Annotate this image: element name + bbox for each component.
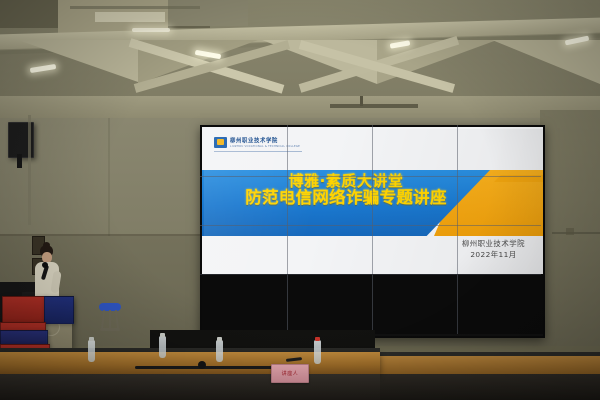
- wall-conduit: [28, 115, 31, 225]
- water-bottle: [314, 340, 321, 364]
- panel-seam: [200, 176, 541, 177]
- product-box: [2, 296, 46, 324]
- ceiling-light: [132, 28, 170, 32]
- ceiling: [0, 0, 600, 122]
- slide-title: 博雅·素质大讲堂 防范电信网络诈骗专题讲座: [202, 173, 490, 207]
- stool-base: [100, 328, 120, 331]
- name-card-text: 讲座人: [282, 370, 299, 377]
- logo-name-en: LIUZHOU VOCATIONAL & TECHNICAL COLLEGE: [230, 145, 300, 148]
- water-bottle: [216, 340, 223, 362]
- name-card: 讲座人: [271, 364, 309, 383]
- front-desk: [0, 352, 380, 374]
- panel-seam: [372, 125, 373, 334]
- panel-seam: [287, 125, 288, 334]
- video-wall[interactable]: 柳州职业技术学院 LIUZHOU VOCATIONAL & TECHNICAL …: [200, 125, 545, 338]
- footer-institution: 柳州职业技术学院: [462, 239, 525, 250]
- microphone-joint: [198, 361, 206, 369]
- slide-footer: 柳州职业技术学院 2022年11月: [462, 239, 525, 260]
- desk-right-front: [372, 374, 600, 400]
- logo-underline: [214, 151, 302, 152]
- panel-seam: [200, 274, 541, 275]
- footer-date: 2022年11月: [462, 250, 525, 261]
- speaker-bracket: [17, 154, 22, 168]
- desk-right: [372, 356, 600, 374]
- product-box: [44, 296, 74, 324]
- title-line-2: 防范电信网络诈骗专题讲座: [202, 189, 490, 207]
- desk-front-panel: [0, 374, 380, 400]
- water-bottle: [159, 336, 166, 358]
- microphone-head: [42, 262, 48, 268]
- logo-name-cn: 柳州职业技术学院: [230, 135, 300, 144]
- photo-scene: 柳州职业技术学院 LIUZHOU VOCATIONAL & TECHNICAL …: [0, 0, 600, 400]
- panel-seam: [200, 225, 541, 226]
- college-emblem-icon: [214, 137, 227, 148]
- panel-seam: [457, 125, 458, 334]
- blue-stool: [99, 303, 121, 333]
- water-bottle: [88, 340, 95, 362]
